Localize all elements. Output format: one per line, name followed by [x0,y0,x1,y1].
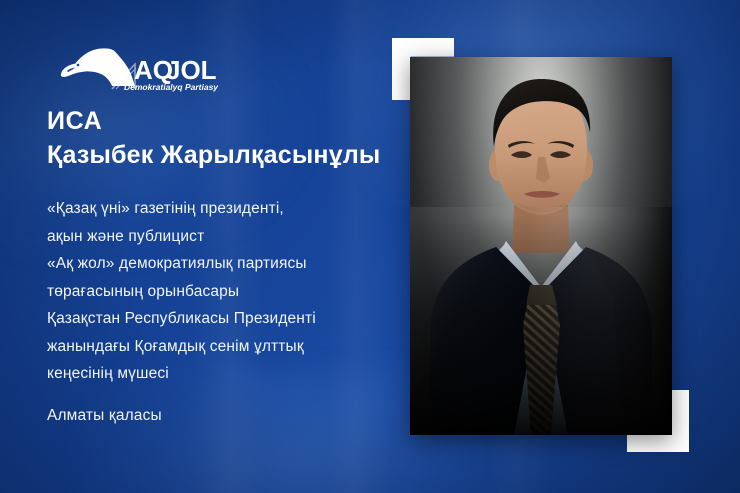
person-given-names: Қазыбек Жарылқасынұлы [47,140,407,171]
logo-tagline: Demokratialyq Partiasy [124,82,219,92]
poster-canvas: AQ JOL Demokratialyq Partiasy ИСА Қазыбе… [0,0,740,493]
person-surname: ИСА [47,106,407,137]
portrait-photo [410,57,672,435]
bio-line: төрағасының орынбасары [47,278,407,306]
bio-line: кеңесінің мүшесі [47,360,407,388]
bio-line: ақын және публицист [47,223,407,251]
bio-line: Қазақстан Республикасы Президенті [47,305,407,333]
logo-title-jol: JOL [166,55,217,85]
bio-line: «Қазақ үні» газетінің президенті, [47,195,407,223]
person-info-block: ИСА Қазыбек Жарылқасынұлы «Қазақ үні» га… [47,106,407,430]
person-city: Алматы қаласы [47,402,407,430]
party-logo: AQ JOL Demokratialyq Partiasy [60,40,220,95]
logo-svg: AQ JOL Demokratialyq Partiasy [60,40,220,95]
person-bio: «Қазақ үні» газетінің президенті, ақын ж… [47,195,407,388]
photo-bottom-shadow [410,57,672,435]
bio-line: жанындағы Қоғамдық сенім ұлттық [47,333,407,361]
bio-line: «Ақ жол» демократиялық партиясы [47,250,407,278]
